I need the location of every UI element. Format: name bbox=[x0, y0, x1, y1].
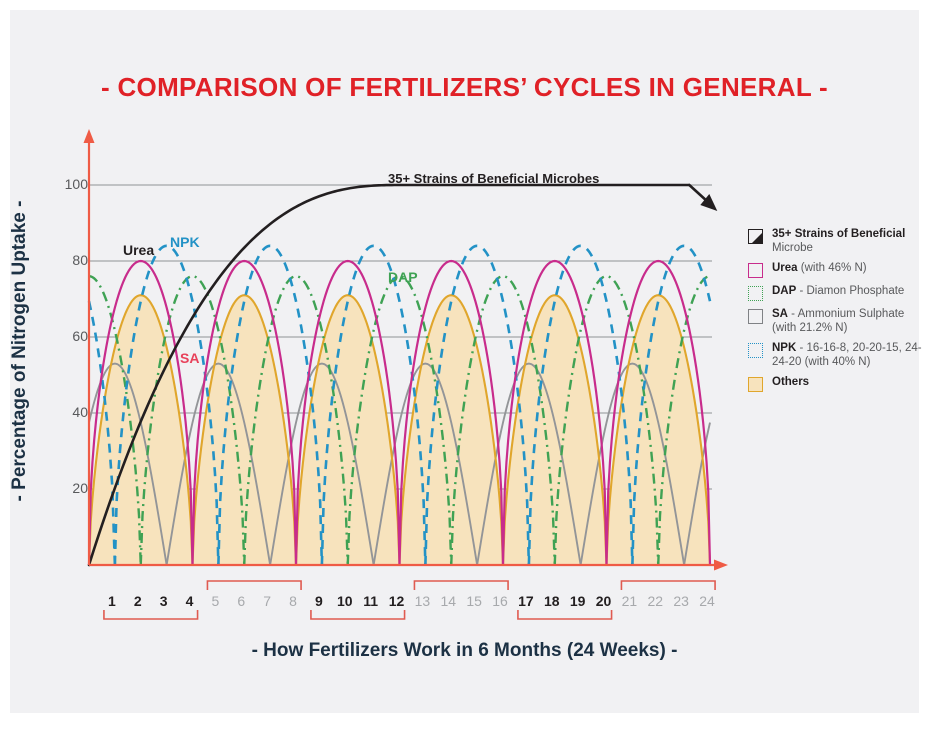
x-tick-week-13: 13 bbox=[410, 593, 434, 609]
legend-label-others-bold: Others bbox=[772, 376, 809, 388]
legend-swatch-others-icon bbox=[748, 377, 763, 392]
legend-item-sa[interactable]: SA - Ammonium Sulphate (with 21.2% N) bbox=[748, 308, 928, 335]
x-tick-week-18: 18 bbox=[540, 593, 564, 609]
legend-label-urea-bold: Urea bbox=[772, 262, 798, 274]
legend-swatch-dap-icon bbox=[748, 286, 763, 301]
legend-label-dap-rest: - Diamon Phosphate bbox=[796, 285, 904, 297]
week-bracket-2 bbox=[207, 581, 301, 590]
x-tick-week-4: 4 bbox=[178, 593, 202, 609]
chart-legend: 35+ Strains of Beneficial MicrobeUrea (w… bbox=[748, 228, 928, 399]
x-tick-week-6: 6 bbox=[229, 593, 253, 609]
x-axis-tick-labels: 123456789101112131415161718192021222324 bbox=[10, 593, 929, 615]
chart-panel: - COMPARISON OF FERTILIZERS’ CYCLES IN G… bbox=[10, 10, 919, 713]
curve-label-microbes: 35+ Strains of Beneficial Microbes bbox=[388, 171, 599, 186]
x-tick-week-10: 10 bbox=[333, 593, 357, 609]
legend-label-microbe: 35+ Strains of Beneficial Microbe bbox=[772, 228, 928, 255]
x-tick-week-2: 2 bbox=[126, 593, 150, 609]
legend-label-npk: NPK - 16-16-8, 20-20-15, 24-24-20 (with … bbox=[772, 342, 928, 369]
legend-label-microbe-bold: 35+ Strains of Beneficial bbox=[772, 228, 905, 240]
x-tick-week-19: 19 bbox=[566, 593, 590, 609]
x-tick-week-7: 7 bbox=[255, 593, 279, 609]
x-tick-week-16: 16 bbox=[488, 593, 512, 609]
x-tick-week-17: 17 bbox=[514, 593, 538, 609]
legend-swatch-urea-icon bbox=[748, 263, 763, 278]
x-tick-week-12: 12 bbox=[385, 593, 409, 609]
legend-item-urea[interactable]: Urea (with 46% N) bbox=[748, 262, 928, 278]
x-tick-week-1: 1 bbox=[100, 593, 124, 609]
x-axis-title: - How Fertilizers Work in 6 Months (24 W… bbox=[10, 640, 919, 662]
legend-label-dap-bold: DAP bbox=[772, 285, 796, 297]
legend-swatch-microbe-icon bbox=[748, 229, 763, 244]
x-tick-week-9: 9 bbox=[307, 593, 331, 609]
x-tick-week-11: 11 bbox=[359, 593, 383, 609]
legend-label-urea: Urea (with 46% N) bbox=[772, 262, 867, 276]
legend-swatch-npk-icon bbox=[748, 343, 763, 358]
x-tick-week-5: 5 bbox=[203, 593, 227, 609]
week-bracket-4 bbox=[414, 581, 508, 590]
x-tick-week-21: 21 bbox=[617, 593, 641, 609]
legend-item-npk[interactable]: NPK - 16-16-8, 20-20-15, 24-24-20 (with … bbox=[748, 342, 928, 369]
legend-label-dap: DAP - Diamon Phosphate bbox=[772, 285, 904, 299]
legend-item-others[interactable]: Others bbox=[748, 376, 928, 392]
legend-label-sa-bold: SA bbox=[772, 308, 788, 320]
curve-label-sa: SA bbox=[180, 350, 199, 366]
legend-label-npk-bold: NPK bbox=[772, 342, 796, 354]
x-tick-week-15: 15 bbox=[462, 593, 486, 609]
screenshot-root: - COMPARISON OF FERTILIZERS’ CYCLES IN G… bbox=[0, 0, 929, 723]
x-tick-week-24: 24 bbox=[695, 593, 719, 609]
legend-label-microbe-rest: Microbe bbox=[772, 242, 813, 254]
x-tick-week-14: 14 bbox=[436, 593, 460, 609]
curve-label-dap: DAP bbox=[388, 269, 418, 285]
legend-label-others: Others bbox=[772, 376, 809, 390]
x-tick-week-23: 23 bbox=[669, 593, 693, 609]
legend-label-urea-rest: (with 46% N) bbox=[798, 262, 867, 274]
legend-swatch-sa-icon bbox=[748, 309, 763, 324]
legend-item-dap[interactable]: DAP - Diamon Phosphate bbox=[748, 285, 928, 301]
x-tick-week-3: 3 bbox=[152, 593, 176, 609]
curve-label-urea: Urea bbox=[123, 242, 154, 258]
legend-label-sa-rest: - Ammonium Sulphate (with 21.2% N) bbox=[772, 308, 904, 334]
legend-item-microbe[interactable]: 35+ Strains of Beneficial Microbe bbox=[748, 228, 928, 255]
x-tick-week-20: 20 bbox=[592, 593, 616, 609]
legend-label-sa: SA - Ammonium Sulphate (with 21.2% N) bbox=[772, 308, 928, 335]
x-tick-week-22: 22 bbox=[643, 593, 667, 609]
curve-label-npk: NPK bbox=[170, 234, 200, 250]
x-tick-week-8: 8 bbox=[281, 593, 305, 609]
week-bracket-6 bbox=[621, 581, 715, 590]
